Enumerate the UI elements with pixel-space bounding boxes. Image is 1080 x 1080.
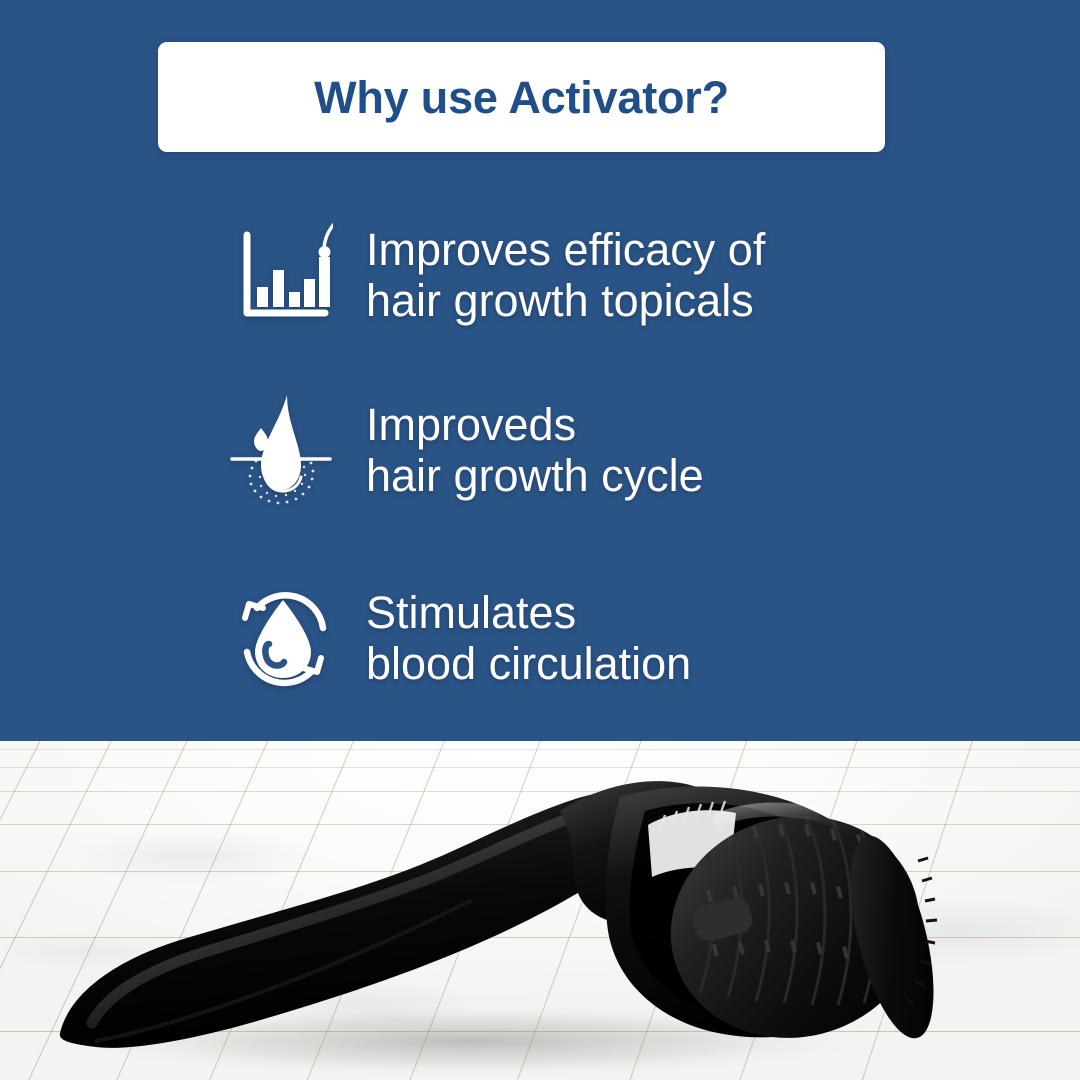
- benefit-label: Stimulates blood circulation: [366, 587, 691, 690]
- benefit-label: Improveds hair growth cycle: [366, 399, 704, 502]
- grout-line-horizontal: [0, 937, 1080, 938]
- blood-circulation-droplet-icon: [228, 578, 338, 698]
- benefit-row: Stimulates blood circulation: [228, 578, 691, 698]
- bar-chart-hair-growth-icon: [228, 215, 338, 335]
- tile-floor-background: [0, 741, 1080, 1080]
- title-card: Why use Activator?: [158, 42, 885, 152]
- grout-line-horizontal: [0, 871, 1080, 872]
- infographic-page: Why use Activator?: [0, 0, 1080, 1080]
- page-title: Why use Activator?: [314, 75, 729, 120]
- grout-line-horizontal: [0, 824, 1080, 825]
- blue-info-panel: Why use Activator?: [0, 0, 1080, 741]
- benefit-row: Improveds hair growth cycle: [228, 390, 704, 510]
- grout-line-horizontal: [0, 749, 1080, 750]
- grout-line-horizontal: [0, 767, 1080, 768]
- benefit-label: Improves efficacy of hair growth topical…: [366, 224, 765, 327]
- benefit-row: Improves efficacy of hair growth topical…: [228, 215, 765, 335]
- hair-follicle-droplet-icon: [228, 390, 338, 510]
- grout-line-horizontal: [0, 1031, 1080, 1032]
